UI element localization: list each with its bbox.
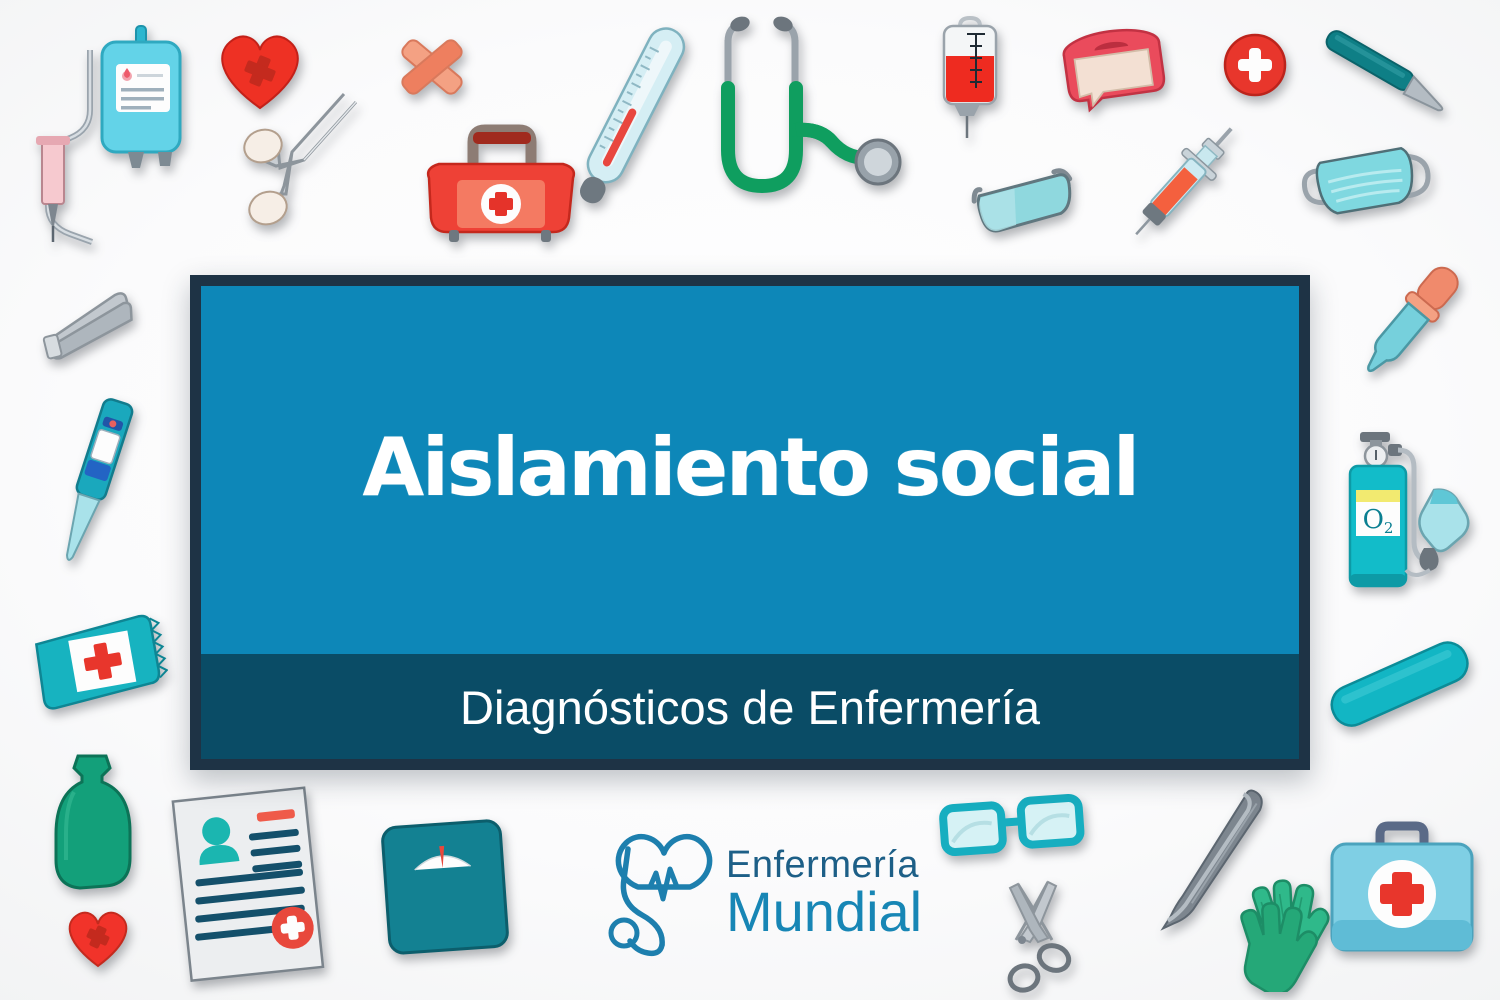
thermometer-icon	[550, 12, 710, 222]
brand-logo[interactable]: Enfermería Mundial	[608, 818, 908, 968]
forceps-icon	[208, 90, 378, 260]
card-bottom-panel: Diagnósticos de Enfermería	[201, 654, 1299, 759]
medical-record-icon	[160, 780, 340, 990]
logo-wordmark: Enfermería Mundial	[726, 848, 922, 938]
dropper-icon	[1340, 250, 1480, 390]
eyeglasses-icon	[936, 792, 1088, 864]
face-mask-icon	[1292, 128, 1442, 228]
scissors-icon	[988, 878, 1092, 996]
heart-cross-icon	[212, 22, 308, 114]
oxygen-tank-label: O2	[1363, 505, 1394, 537]
iv-drip-icon	[30, 20, 170, 250]
hot-water-bottle-icon	[44, 748, 140, 898]
syringe-icon	[1110, 105, 1260, 255]
nail-clipper-icon	[36, 292, 144, 362]
heart-stethoscope-ecg-icon	[608, 829, 720, 957]
poster-canvas: O2 Aislamiento social Diagnósticos de En…	[0, 0, 1500, 1000]
page-title: Aislamiento social	[362, 428, 1137, 508]
logo-line-mundial: Mundial	[726, 886, 922, 939]
logo-line-enfermeria: Enfermería	[726, 848, 922, 884]
oxygen-tank-icon: O2	[1330, 418, 1490, 618]
digital-thermometer-icon	[44, 390, 144, 580]
safety-goggles-icon	[968, 168, 1088, 240]
bandage-packet-icon	[28, 608, 168, 713]
gauze-roll-icon	[1055, 24, 1175, 124]
red-cross-badge-icon	[1222, 32, 1288, 98]
scalpel-icon	[1300, 14, 1460, 144]
weight-scale-icon	[374, 812, 514, 962]
first-aid-kit-icon	[1322, 820, 1482, 970]
page-subtitle: Diagnósticos de Enfermería	[460, 680, 1040, 735]
card-top-panel: Aislamiento social	[201, 286, 1299, 654]
gloves-icon	[1236, 872, 1348, 992]
tweezers-icon	[1150, 780, 1290, 950]
stethoscope-icon	[700, 10, 930, 220]
adhesive-bandage-icon	[1320, 630, 1480, 740]
blood-transfusion-icon	[930, 14, 1010, 144]
bandage-cross-icon	[392, 28, 472, 106]
title-card: Aislamiento social Diagnósticos de Enfer…	[190, 275, 1310, 770]
small-heart-icon	[62, 904, 134, 970]
first-aid-bag-icon	[415, 120, 585, 245]
blood-bag-icon	[92, 22, 192, 192]
